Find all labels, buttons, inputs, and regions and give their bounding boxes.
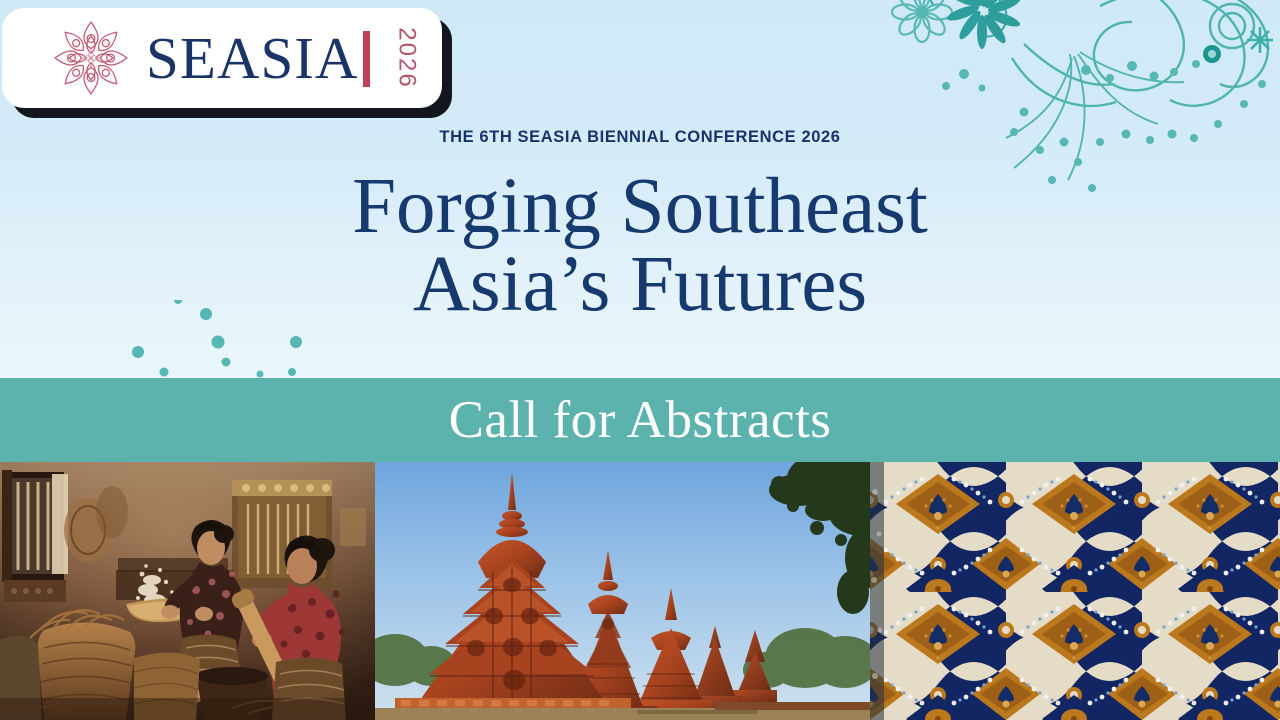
headline-line-1: Forging Southeast [352, 163, 928, 250]
conference-eyebrow: THE 6TH SEASIA BIENNIAL CONFERENCE 2026 [0, 128, 1280, 147]
conference-poster: SEASIA 2026 THE 6TH SEASIA BIENNIAL CONF… [0, 0, 1280, 720]
logo-wordmark: SEASIA [146, 29, 359, 88]
page-title: Forging Southeast Asia’s Futures [0, 168, 1280, 324]
seasia-logo-badge[interactable]: SEASIA 2026 [2, 8, 442, 108]
photo-women-winnowing-rice [0, 462, 375, 720]
call-for-abstracts-banner: Call for Abstracts [0, 378, 1280, 462]
hero-section: SEASIA 2026 THE 6TH SEASIA BIENNIAL CONF… [0, 0, 1280, 378]
photo-strip [0, 462, 1280, 720]
photo-brick-temple-stupas [375, 462, 870, 720]
call-for-abstracts-label: Call for Abstracts [449, 390, 832, 450]
photo-batik-textile [870, 462, 1280, 720]
mandala-rosette-icon [52, 19, 130, 97]
headline-line-2: Asia’s Futures [0, 246, 1280, 324]
logo-year: 2026 [392, 27, 420, 88]
logo-accent-bar [363, 31, 370, 87]
